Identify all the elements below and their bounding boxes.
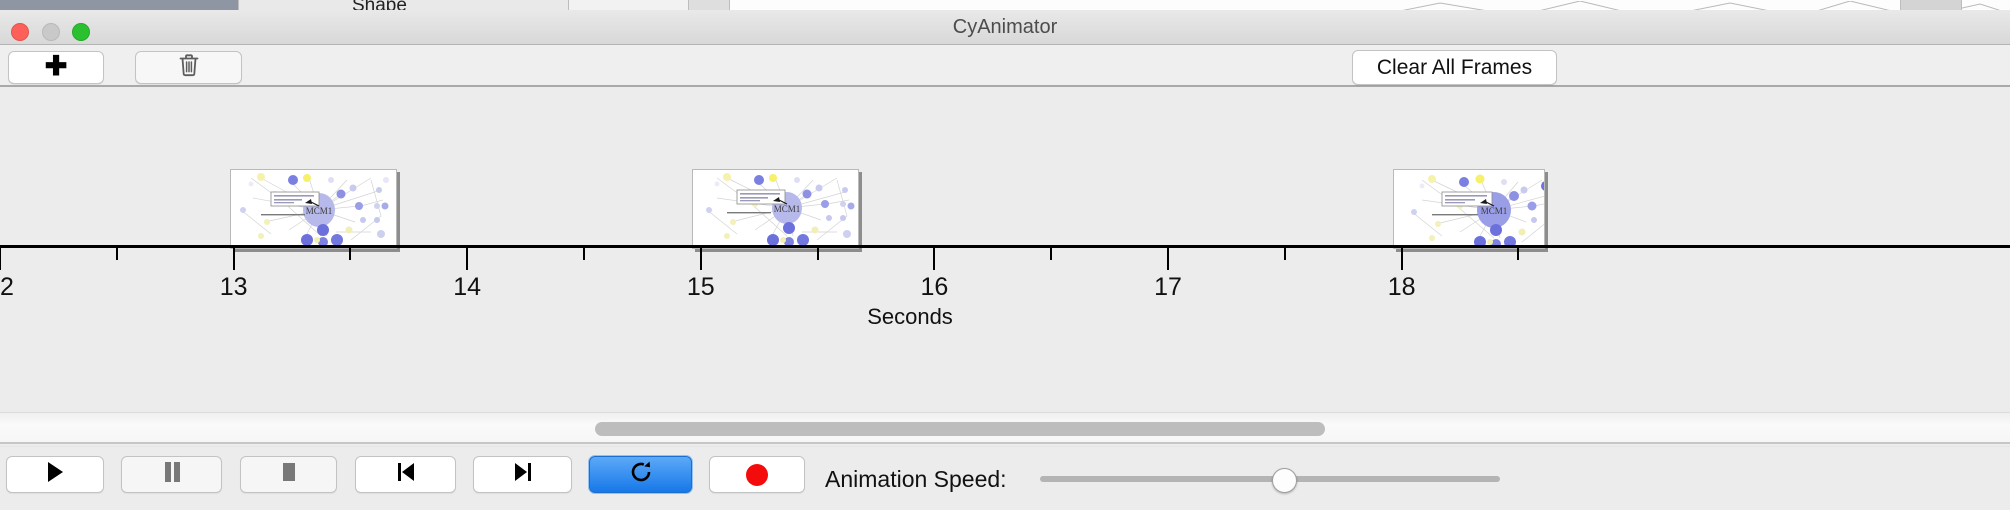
ruler-tick-minor [1050,248,1052,260]
ruler-tick-major [233,248,235,270]
ruler-tick-minor [116,248,118,260]
record-button[interactable] [709,456,805,493]
timeline-panel[interactable]: MCM1 [0,87,2010,412]
ruler-tick-minor [1284,248,1286,260]
ruler-tick-label: 13 [220,273,248,302]
skip-to-end-button[interactable] [473,456,572,493]
ruler-tick-major [933,248,935,270]
ruler-tick-label: 18 [1388,273,1416,302]
frame-toolbar: ✚ Clear All Frames [0,45,2010,87]
cyanimator-window: Shape CyAnimator ✚ [0,0,2010,510]
window-titlebar: CyAnimator [0,10,2010,45]
play-icon [45,461,65,488]
svg-text:MCM1: MCM1 [1481,206,1508,216]
ruler-tick-label: 16 [920,273,948,302]
animation-speed-slider[interactable] [1040,476,1500,482]
pause-icon [162,461,182,488]
ruler-tick-label: 12 [0,273,14,302]
ruler-tick-minor [349,248,351,260]
plus-icon: ✚ [45,53,68,80]
ruler-tick-label: 14 [453,273,481,302]
transport-bar: Animation Speed: [0,446,2010,510]
timeline-frame-thumbnail[interactable]: MCM1 [1393,169,1545,249]
loop-button[interactable] [589,456,692,493]
ruler-tick-major [0,248,1,270]
loop-icon [629,460,653,489]
ruler-tick-label: 17 [1154,273,1182,302]
timeline-frame-thumbnail[interactable]: MCM1 [692,169,859,249]
scrollbar-thumb[interactable] [595,422,1325,436]
delete-frame-button[interactable] [135,51,242,84]
skip-start-icon [395,461,417,488]
ruler-tick-label: 15 [687,273,715,302]
timeline-axis-title: Seconds [867,304,953,330]
animation-speed-slider-handle[interactable] [1272,468,1297,493]
timeline-ruler [0,245,2010,248]
window-title: CyAnimator [0,10,2010,45]
ruler-tick-minor [583,248,585,260]
animation-speed-label: Animation Speed: [825,447,1007,510]
ruler-tick-major [466,248,468,270]
stop-button[interactable] [240,456,337,493]
ruler-tick-major [1401,248,1403,270]
timeline-horizontal-scrollbar[interactable] [0,412,2010,444]
clear-all-frames-button[interactable]: Clear All Frames [1352,50,1557,85]
trash-icon [178,53,200,82]
svg-text:MCM1: MCM1 [774,204,801,214]
skip-to-start-button[interactable] [355,456,456,493]
play-button[interactable] [6,456,104,493]
svg-text:MCM1: MCM1 [306,206,333,216]
ruler-tick-major [1167,248,1169,270]
ruler-tick-major [700,248,702,270]
ruler-tick-minor [1517,248,1519,260]
stop-icon [279,461,299,488]
ruler-tick-minor [817,248,819,260]
pause-button[interactable] [121,456,222,493]
record-icon [746,464,768,486]
add-frame-button[interactable]: ✚ [8,51,104,84]
timeline-frame-thumbnail[interactable]: MCM1 [230,169,397,249]
skip-end-icon [512,461,534,488]
